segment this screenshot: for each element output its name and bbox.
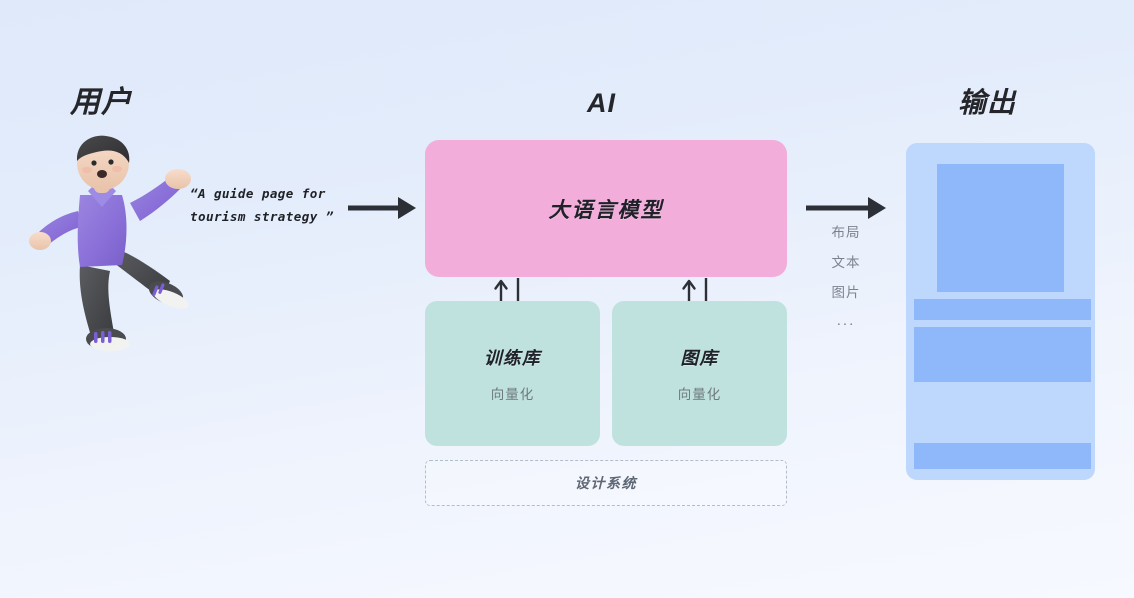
left-eye [91, 160, 96, 165]
section-title-ai: AI [587, 90, 616, 117]
image-library-title: 图库 [681, 345, 719, 370]
output-feature-text: 文本 [806, 248, 886, 278]
design-system-label: 设计系统 [575, 473, 637, 493]
arrow-right-icon-output [806, 196, 886, 220]
mouth [97, 170, 107, 178]
output-feature-list: 布局 文本 图片 ... [806, 218, 886, 334]
training-library-title: 训练库 [484, 345, 541, 370]
arrow-head [398, 197, 416, 219]
llm-box[interactable]: 大语言模型 [425, 140, 787, 277]
person-illustration [18, 133, 198, 353]
section-title-user: 用户 [70, 88, 132, 118]
design-system-box[interactable]: 设计系统 [425, 460, 787, 506]
mockup-hero-image [937, 164, 1064, 292]
output-feature-layout: 布局 [806, 218, 886, 248]
right-hand [165, 169, 191, 189]
llm-box-title: 大语言模型 [549, 194, 664, 224]
arrow-shaft [348, 206, 400, 211]
arrow-right-icon-input [348, 196, 416, 220]
left-hand [29, 232, 51, 250]
left-leg [80, 265, 114, 339]
right-eye [108, 159, 113, 164]
left-shoe [86, 328, 130, 351]
right-cheek [112, 166, 122, 172]
image-library-box[interactable]: 图库 向量化 [612, 301, 787, 446]
mockup-footer-bar [914, 443, 1091, 469]
mockup-title-bar [914, 299, 1091, 320]
mockup-content-block [914, 327, 1091, 382]
output-page-mockup[interactable] [906, 143, 1095, 480]
arrow-shaft [806, 206, 870, 211]
output-feature-image: 图片 [806, 278, 886, 308]
arrow-head [868, 197, 886, 219]
output-feature-more: ... [806, 308, 886, 334]
diagram-canvas: 用户 AI 输出 [0, 0, 1134, 598]
user-prompt-quote: “A guide page for tourism strategy ” [190, 182, 340, 228]
training-library-box[interactable]: 训练库 向量化 [425, 301, 600, 446]
left-cheek [82, 167, 92, 173]
image-library-subtitle: 向量化 [678, 383, 722, 403]
training-library-subtitle: 向量化 [491, 383, 535, 403]
section-title-output: 输出 [958, 89, 1016, 117]
